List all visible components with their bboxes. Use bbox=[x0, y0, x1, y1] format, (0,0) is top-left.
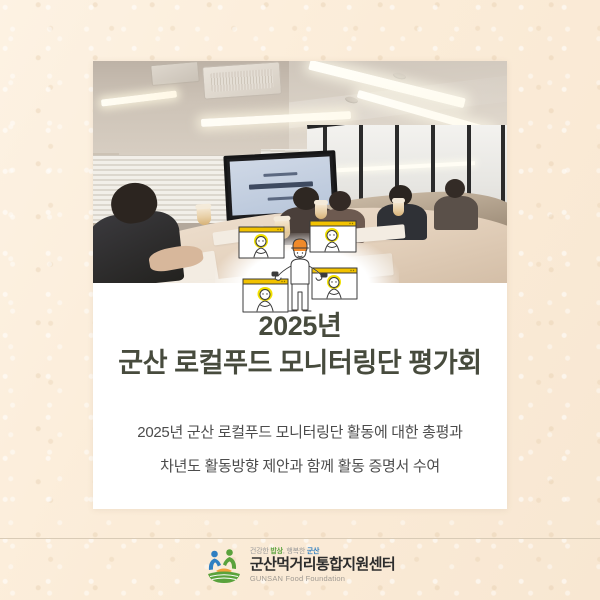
footer-divider bbox=[0, 538, 600, 539]
photo-attendee-head bbox=[445, 179, 465, 198]
video-window bbox=[310, 221, 356, 252]
video-window bbox=[239, 227, 284, 258]
photo-attendee bbox=[434, 196, 478, 230]
logo-tagline: 건강한 밥상, 행복한 군산 bbox=[250, 547, 395, 556]
logo-tagline-part-2: , 행복한 bbox=[283, 548, 307, 555]
photo-coffee-cup bbox=[393, 201, 404, 216]
card-subtitle: 2025년 군산 로컬푸드 모니터링단 활동에 대한 총평과 차년도 활동방향 … bbox=[93, 416, 507, 484]
online-presenter-illustration bbox=[236, 218, 366, 318]
photo-coffee-cup bbox=[196, 207, 211, 226]
photo-glass-header-rail bbox=[307, 125, 506, 129]
title-line-2: 군산 로컬푸드 모니터링단 평가회 bbox=[93, 344, 507, 382]
photo-screen-text-line bbox=[263, 172, 297, 177]
gunsan-food-foundation-logo-icon bbox=[205, 545, 243, 585]
photo-glass-inner-light bbox=[325, 161, 475, 173]
logo-tagline-highlight-green: 밥상 bbox=[270, 548, 282, 555]
footer-branding: 건강한 밥상, 행복한 군산 군산먹거리통합지원센터 GUNSAN Food F… bbox=[0, 545, 600, 585]
photo-ac-cassette bbox=[202, 61, 282, 99]
content-card: 2025년 군산 로컬푸드 모니터링단 평가회 2025년 군산 로컬푸드 모니… bbox=[93, 61, 507, 509]
card-title: 2025년 군산 로컬푸드 모니터링단 평가회 bbox=[93, 308, 507, 382]
logo-tagline-highlight-blue: 군산 bbox=[307, 548, 319, 555]
logo-name-english: GUNSAN Food Foundation bbox=[250, 574, 395, 584]
photo-attendee-head bbox=[329, 191, 351, 211]
subtitle-line-1: 2025년 군산 로컬푸드 모니터링단 활동에 대한 총평과 bbox=[93, 416, 507, 450]
video-window bbox=[243, 279, 288, 312]
logo-name-korean: 군산먹거리통합지원센터 bbox=[250, 556, 395, 574]
photo-screen-text-line bbox=[268, 196, 296, 200]
photo-coffee-cup bbox=[315, 203, 327, 219]
subtitle-line-2: 차년도 활동방향 제안과 함께 활동 증명서 수여 bbox=[93, 450, 507, 484]
logo-tagline-part-1: 건강한 bbox=[250, 548, 270, 555]
logo-text-block: 건강한 밥상, 행복한 군산 군산먹거리통합지원센터 GUNSAN Food F… bbox=[250, 547, 395, 584]
photo-ceiling-vent bbox=[150, 61, 200, 86]
